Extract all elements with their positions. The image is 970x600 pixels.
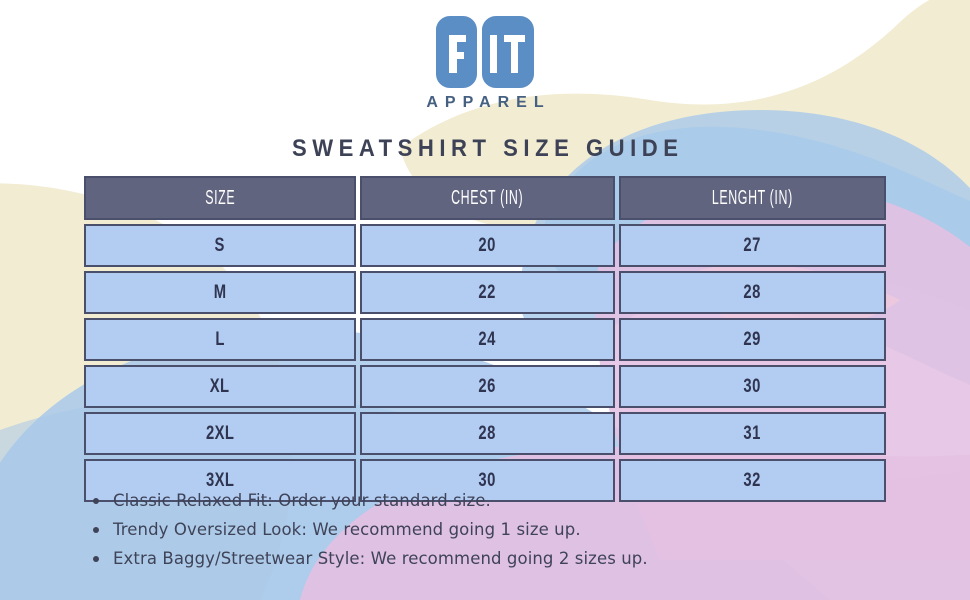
cell-value-length: 27	[744, 235, 761, 257]
bullet-icon	[93, 556, 99, 562]
cell-value-chest: 20	[479, 235, 496, 257]
table-row: S 20 27	[84, 224, 886, 267]
note-text: Extra Baggy/Streetwear Style: We recomme…	[113, 549, 648, 568]
cell-value-size: 2XL	[206, 423, 234, 445]
cell-value-size: M	[214, 282, 227, 304]
cell-value-length: 31	[744, 423, 761, 445]
header-label-size: SIZE	[205, 187, 235, 210]
cell-value-length: 28	[744, 282, 761, 304]
brand-logo: APPAREL	[0, 16, 970, 112]
cell-value-size: 3XL	[206, 470, 234, 492]
table-row: 2XL 28 31	[84, 412, 886, 455]
cell-chest: 20	[360, 224, 615, 267]
header-label-chest: CHEST (IN)	[451, 187, 523, 210]
header-cell-length: LENGHT (IN)	[619, 176, 886, 220]
cell-length: 28	[619, 271, 886, 314]
list-item: Extra Baggy/Streetwear Style: We recomme…	[88, 548, 648, 570]
cell-value-length: 29	[744, 329, 761, 351]
header-cell-chest: CHEST (IN)	[360, 176, 615, 220]
cell-size: M	[84, 271, 356, 314]
cell-chest: 28	[360, 412, 615, 455]
cell-size: XL	[84, 365, 356, 408]
cell-value-size: L	[215, 329, 224, 351]
cell-chest: 22	[360, 271, 615, 314]
cell-chest: 26	[360, 365, 615, 408]
note-text: Classic Relaxed Fit: Order your standard…	[113, 491, 491, 510]
list-item: Classic Relaxed Fit: Order your standard…	[88, 490, 648, 512]
fit-logo-icon	[436, 16, 534, 88]
size-chart-table: SIZE CHEST (IN) LENGHT (IN) S 20 27 M	[84, 176, 886, 506]
cell-value-chest: 22	[479, 282, 496, 304]
list-item: Trendy Oversized Look: We recommend goin…	[88, 519, 648, 541]
cell-value-size: S	[215, 235, 225, 257]
table-row: XL 26 30	[84, 365, 886, 408]
cell-value-length: 32	[744, 470, 761, 492]
table-row: M 22 28	[84, 271, 886, 314]
cell-value-length: 30	[744, 376, 761, 398]
cell-length: 32	[619, 459, 886, 502]
note-text: Trendy Oversized Look: We recommend goin…	[113, 520, 581, 539]
cell-length: 30	[619, 365, 886, 408]
table-header-row: SIZE CHEST (IN) LENGHT (IN)	[84, 176, 886, 220]
header-label-length: LENGHT (IN)	[712, 187, 793, 210]
cell-value-size: XL	[210, 376, 230, 398]
bullet-icon	[93, 527, 99, 533]
cell-value-chest: 30	[479, 470, 496, 492]
brand-wordmark: APPAREL	[0, 94, 970, 112]
cell-chest: 24	[360, 318, 615, 361]
page-title: SWEATSHIRT SIZE GUIDE	[39, 135, 931, 163]
size-guide-page: APPAREL SWEATSHIRT SIZE GUIDE SIZE CHEST…	[0, 0, 970, 600]
cell-size: 2XL	[84, 412, 356, 455]
cell-value-chest: 28	[479, 423, 496, 445]
cell-length: 27	[619, 224, 886, 267]
fit-notes-list: Classic Relaxed Fit: Order your standard…	[88, 490, 648, 577]
cell-length: 31	[619, 412, 886, 455]
table-row: L 24 29	[84, 318, 886, 361]
cell-size: S	[84, 224, 356, 267]
header-cell-size: SIZE	[84, 176, 356, 220]
cell-value-chest: 24	[479, 329, 496, 351]
bullet-icon	[93, 498, 99, 504]
cell-length: 29	[619, 318, 886, 361]
cell-value-chest: 26	[479, 376, 496, 398]
cell-size: L	[84, 318, 356, 361]
